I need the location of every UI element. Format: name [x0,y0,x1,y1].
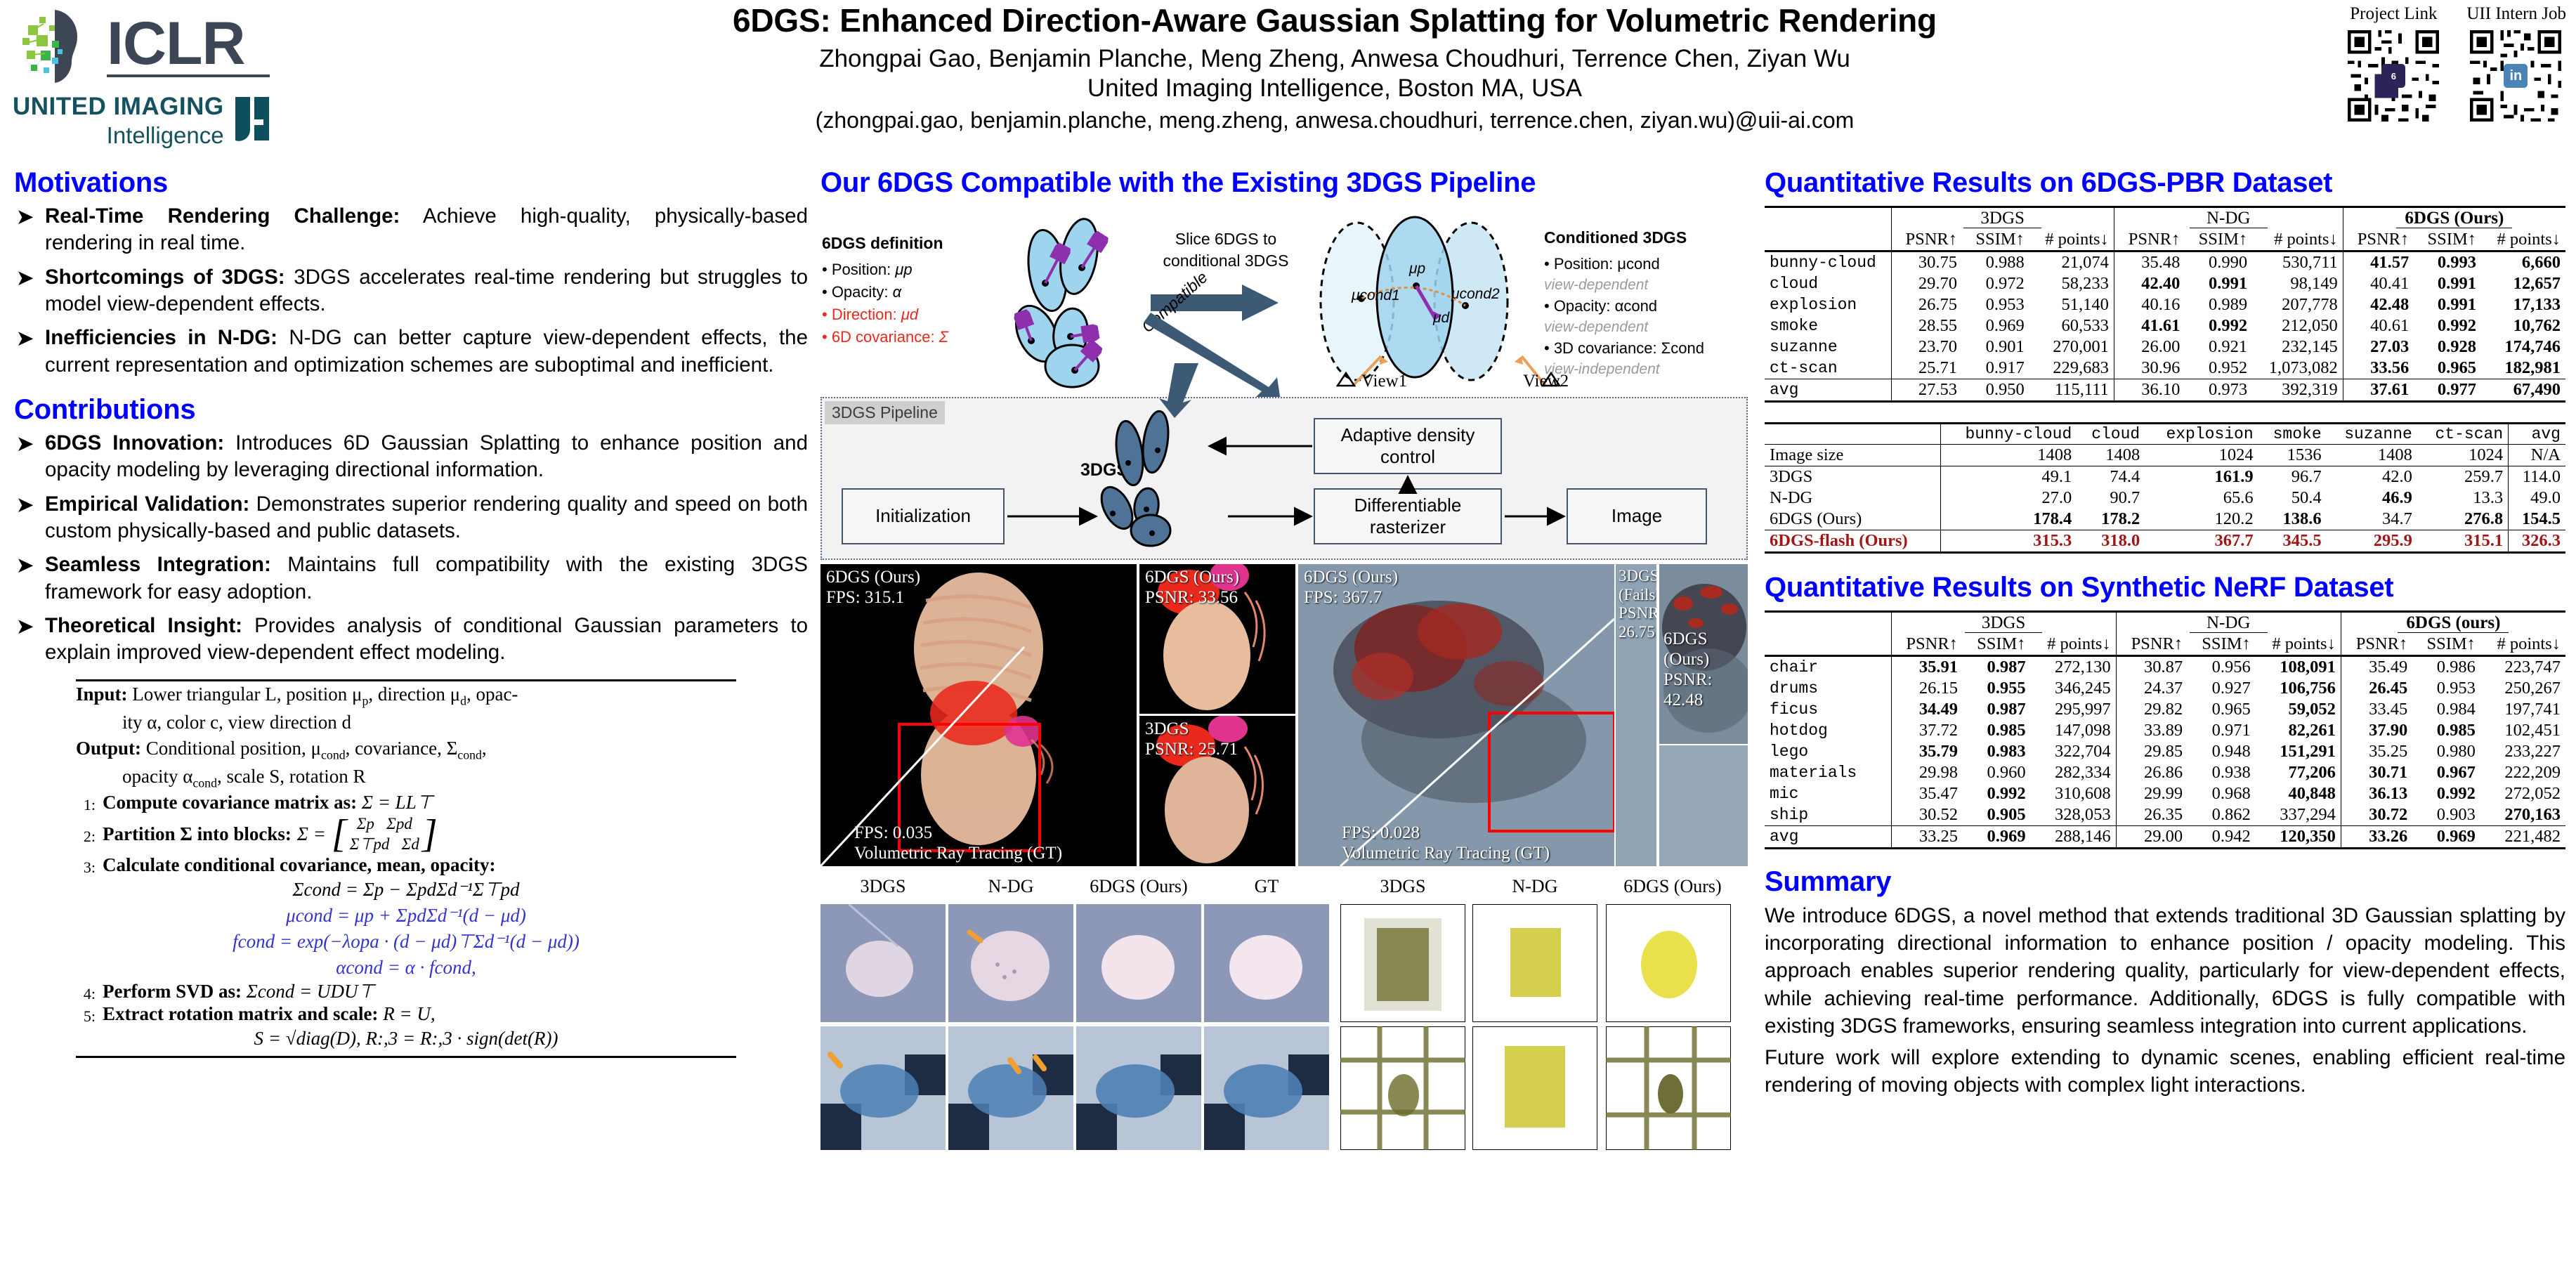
table-cell: 77,206 [2256,762,2341,783]
table-cell: 35.91 [1891,656,1963,679]
table-cell: 270,001 [2029,337,2114,358]
arrow-into-pipeline-icon [1131,363,1215,419]
title-block: 6DGS: Enhanced Direction-Aware Gaussian … [393,3,2276,134]
table-cell: 182,981 [2481,358,2565,379]
table-cell: 288,146 [2031,826,2117,849]
table-cell: 23.70 [1891,337,1962,358]
table-cell: 272,052 [2480,783,2565,804]
table-cell: 147,098 [2031,720,2117,741]
table-cell: 0.917 [1962,358,2029,379]
strip-header-right-2: 6DGS (Ours) [1606,876,1739,897]
qr-project-caption: Project Link [2344,4,2443,24]
table-cell: 221,482 [2480,826,2565,849]
nerf-sub-2a: PSNR↑ [2341,634,2412,656]
table-cell: 0.965 [2414,358,2481,379]
table-cell: 229,683 [2029,358,2114,379]
table-cell: 34.49 [1891,699,1963,720]
table-cell: 178.4 [1940,509,2077,530]
fps-col-1: cloud [2077,424,2145,445]
overlay-ct-main-l2: FPS: 315.1 [826,587,920,608]
bullet-lead: Empirical Validation: [45,492,249,516]
overlay-ct-zoom1-l2: PSNR: 33.56 [1145,587,1239,608]
table-cell: 29.70 [1891,273,1962,294]
table-cell: 120,350 [2256,826,2341,849]
nerf-sub-0b: SSIM↑ [1963,634,2031,656]
list-item: ➤Empirical Validation: Demonstrates supe… [14,491,808,545]
table-row: ship30.520.905328,05326.350.862337,29430… [1765,804,2565,826]
pbr-sub-1c: # points↓ [2252,229,2343,251]
table-row-label: hotdog [1765,720,1891,741]
table-cell: 0.990 [2185,251,2252,274]
section-heading-motivations: Motivations [14,167,808,199]
table-cell: 29.82 [2116,699,2188,720]
overlay-smoke-fail-l2: PSNR: 26.75 [1619,604,1656,641]
table-cell: 60,533 [2029,315,2114,337]
bullet-lead: Inefficiencies in N-DG: [45,326,277,349]
table-cell: 0.948 [2188,741,2256,762]
table-cell: 35.49 [2341,656,2412,679]
table-cell: 58,233 [2029,273,2114,294]
table-cell: 1024 [2417,445,2509,466]
def-opacity-label: • Opacity: [822,283,889,301]
table-cell: 212,050 [2252,315,2343,337]
algo-output-a: Conditional position, μ [146,738,321,759]
overlay-smoke-gt-l2: Volumetric Ray Tracing (GT) [1342,843,1550,863]
table-cell: 102,451 [2480,720,2565,741]
table-row-label: ficus [1765,699,1891,720]
table-cell: 1536 [2258,445,2327,466]
algo-input-label: Input: [76,684,128,705]
table-cell: 222,209 [2480,762,2565,783]
strip-header-right-1: N-DG [1472,876,1597,897]
table-cell: 0.952 [2185,358,2252,379]
overlay-smoke-main-l1: 6DGS (Ours) [1304,567,1398,587]
table-cell: 6,660 [2481,251,2565,274]
table-row: avg27.530.950115,11136.100.973392,31937.… [1765,379,2565,402]
table-cell: 30.52 [1891,804,1963,826]
table-cell: 24.37 [2116,678,2188,699]
table-cell: 207,778 [2252,294,2343,315]
algo-step-1-num: 1: [76,792,96,814]
algo-output-c: opacity α [122,766,192,787]
table-cell: 0.989 [2185,294,2252,315]
uii-logo: UNITED IMAGING Intelligence [13,93,364,149]
table-cell: 40.16 [2114,294,2185,315]
table-cell: 36.10 [2114,379,2185,402]
table-cell: 0.938 [2188,762,2256,783]
fps-col-3: smoke [2258,424,2327,445]
list-item: ➤Theoretical Insight: Provides analysis … [14,613,808,667]
poster-header: ICLR UNITED IMAGING Intelligence 6DGS: [0,0,2576,167]
algo-step-4: 4: Perform SVD as: Σcond = UDU⊤ [76,981,736,1003]
strip-cell-cloud-3dgs [820,904,946,1026]
table-row-subheader: PSNR↑ SSIM↑ # points↓ PSNR↑ SSIM↑ # poin… [1765,229,2565,251]
table-cell: 42.0 [2327,466,2417,488]
table-cell: 161.9 [2145,466,2258,488]
table-cell: 1,073,082 [2252,358,2343,379]
algo-output-d: , scale S, rotation R [217,766,365,787]
fps-col-0: bunny-cloud [1940,424,2077,445]
fps-col-6: avg [2509,424,2565,445]
table-cell: 315.1 [2417,530,2509,553]
table-cell: 1408 [2327,445,2417,466]
fps-col-5: ct-scan [2417,424,2509,445]
table-cell: 17,133 [2481,294,2565,315]
algo-step-1-text: Compute covariance matrix as: [103,792,357,813]
table-cell: 96.7 [2258,466,2327,488]
table-cell: 30.75 [1891,251,1962,274]
cond-covariance-note: view-independent [1544,360,1748,379]
qr-project-link[interactable]: Project Link [2344,4,2443,125]
nerf-sub-2b: SSIM↑ [2412,634,2480,656]
slice-label: Slice 6DGS to conditional 3DGS [1145,228,1307,272]
table-cell: 326.3 [2509,530,2565,553]
table-row: N-DG27.090.765.650.446.913.349.0 [1765,488,2565,509]
page-title: 6DGS: Enhanced Direction-Aware Gaussian … [393,3,2276,39]
table-row: cloud29.700.97258,23342.400.99198,14940.… [1765,273,2565,294]
label-mu-cond1: μcond1 [1352,287,1400,304]
column-left: Motivations ➤Real-Time Rendering Challen… [14,167,808,1058]
diagram-6dgs-definition: 6DGS definition • Position: μp • Opacity… [820,203,1748,394]
qr-intern-caption: UII Intern Job [2466,4,2566,24]
table-cell: 29.98 [1891,762,1963,783]
table-cell: 0.992 [2185,315,2252,337]
uii-shield-icon [234,96,270,146]
algo-output-line: Output: Conditional position, μcond, cov… [76,736,736,764]
table-cell: 26.45 [2341,678,2412,699]
table-cell: 0.992 [1963,783,2031,804]
algo-input-line: Input: Lower triangular L, position μp, … [76,681,736,710]
algo-eq-f: fcond = exp(−λopa · (d − μd)⊤Σd⁻¹(d − μd… [76,929,736,955]
strip-cell-ship-gt [1204,1026,1329,1154]
table-row-group-header: 3DGS N-DG 6DGS (Ours) [1765,207,2565,230]
affiliation: United Imaging Intelligence, Boston MA, … [393,74,2276,104]
table-fps: bunny-cloud cloud explosion smoke suzann… [1765,422,2565,555]
overlay-ct-main: 6DGS (Ours) FPS: 315.1 [826,567,920,608]
table-row: 6DGS (Ours)178.4178.2120.2138.634.7276.8… [1765,509,2565,530]
table-cell: 0.987 [1963,699,2031,720]
pbr-sub-1a: PSNR↑ [2114,229,2185,251]
table-cell: 0.927 [2188,678,2256,699]
table-cell: 74.4 [2077,466,2145,488]
arrow-bullet-icon: ➤ [17,431,33,457]
table-cell: 13.3 [2417,488,2509,509]
table-cell: 0.955 [1963,678,2031,699]
table-row-label: chair [1765,656,1891,679]
table-cell: 28.55 [1891,315,1962,337]
table-cell: 0.942 [2188,826,2256,849]
table-cell: 0.905 [1963,804,2031,826]
strip-cell-points-6dgs-top [1606,904,1731,1026]
table-cell: 26.86 [2116,762,2188,783]
section-heading-pipeline: Our 6DGS Compatible with the Existing 3D… [820,167,1748,199]
algorithm-box: Input: Lower triangular L, position μp, … [76,679,736,1059]
strip-header-right-0: 3DGS [1340,876,1465,897]
table-cell: 315.3 [1940,530,2077,553]
label-mu-cond2: μcond2 [1451,286,1500,303]
strip-header-left-1: N-DG [948,876,1073,897]
bullet-lead: Theoretical Insight: [45,614,242,637]
table-row-label: 3DGS [1765,466,1940,488]
overlay-smoke-main: 6DGS (Ours) FPS: 367.7 [1304,567,1398,608]
table-row: bunny-cloud30.750.98821,07435.480.990530… [1765,251,2565,274]
table-cell: 0.972 [1962,273,2029,294]
table-cell: 33.89 [2116,720,2188,741]
table-cell: 0.980 [2412,741,2480,762]
table-cell: 1024 [2145,445,2258,466]
table-cell: 0.991 [2414,294,2481,315]
table-row-label: N-DG [1765,488,1940,509]
def-position-label: • Position: [822,261,891,278]
qr-code-linkedin-icon: in [2466,27,2565,125]
bullet-lead: Seamless Integration: [45,553,271,576]
table-cell: 0.969 [2412,826,2480,849]
table-row: smoke28.550.96960,53341.610.992212,05040… [1765,315,2565,337]
overlay-smoke-zoom-l2: PSNR: 42.48 [1663,669,1748,710]
bullet-lead: Real-Time Rendering Challenge: [45,204,400,228]
table-cell: 26.00 [2114,337,2185,358]
table-cell: 29.99 [2116,783,2188,804]
algo-step-1: 1: Compute covariance matrix as: Σ = LL⊤ [76,792,736,814]
overlay-smoke-gt-l1: FPS: 0.028 [1342,823,1550,843]
algo-step-2-eq: Σ = [297,823,326,845]
table-row-label: 6DGS-flash (Ours) [1765,530,1940,553]
image-smoke-zoom-6dgs: 6DGS (Ours) PSNR: 42.48 [1659,564,1748,744]
table-cell: 49.0 [2509,488,2565,509]
pbr-sub-0a: PSNR↑ [1891,229,1962,251]
table-cell: 0.967 [2412,762,2480,783]
section-heading-pbr-table: Quantitative Results on 6DGS-PBR Dataset [1765,167,2565,199]
table-cell: 223,747 [2480,656,2565,679]
email-line: (zhongpai.gao, benjamin.planche, meng.zh… [393,107,2276,134]
table-cell: 0.985 [1963,720,2031,741]
table-row: lego35.790.983322,70429.850.948151,29135… [1765,741,2565,762]
table-row-label: smoke [1765,315,1891,337]
table-cell: 30.96 [2114,358,2185,379]
pbr-sub-2c: # points↓ [2481,229,2565,251]
table-row: explosion26.750.95351,14040.160.989207,7… [1765,294,2565,315]
image-smoke-6dgs-main: 6DGS (Ours) FPS: 367.7 FPS: 0.028 Volume… [1298,564,1614,866]
overlay-smoke-fail: 3DGS (Fails) PSNR: 26.75 [1619,567,1656,642]
overlay-smoke-zoom-l1: 6DGS (Ours) [1663,629,1748,669]
fps-col-2: explosion [2145,424,2258,445]
table-cell: 34.7 [2327,509,2417,530]
algo-step-4-text: Perform SVD as: [103,981,242,1002]
table-cell: 30.87 [2116,656,2188,679]
def-direction: • Direction: μd [822,303,1005,326]
table-cell: 0.977 [2414,379,2481,402]
table-cell: 1408 [1940,445,2077,466]
table-cell: 98,149 [2252,273,2343,294]
table-row: 3DGS49.174.4161.996.742.0259.7114.0 [1765,466,2565,488]
table-cell: 26.35 [2116,804,2188,826]
table-cell: 392,319 [2252,379,2343,402]
algo-matrix-10: Σ⊤pd [350,835,390,853]
table-cell: 276.8 [2417,509,2509,530]
table-cell: 0.903 [2412,804,2480,826]
table-cell: 0.984 [2412,699,2480,720]
uii-line1: UNITED IMAGING [13,93,224,121]
table-row: avg33.250.969288,14629.000.942120,35033.… [1765,826,2565,849]
contributions-list: ➤6DGS Innovation: Introduces 6D Gaussian… [14,430,808,667]
table-row-subheader: PSNR↑ SSIM↑ # points↓ PSNR↑ SSIM↑ # poin… [1765,634,2565,656]
nerf-group-1: N-DG [2190,613,2268,633]
table-cell: 33.26 [2341,826,2412,849]
table-row-label: avg [1765,379,1891,402]
cond-opacity: • Opacity: αcond [1544,295,1748,318]
pipeline-arrows-icon [822,398,1749,561]
strip-cell-ship-6dgs [1076,1026,1201,1154]
table-cell: 0.992 [2412,783,2480,804]
table-cell: 0.983 [1963,741,2031,762]
strip-header-left-2: 6DGS (Ours) [1076,876,1201,897]
table-cell: 30.71 [2341,762,2412,783]
table-cell: 0.992 [2414,315,2481,337]
table-cell: 49.1 [1940,466,2077,488]
strip-cell-cloud-ndg [948,904,1073,1026]
algo-output-b: , covariance, Σ [346,738,458,759]
table-cell: 41.61 [2114,315,2185,337]
uii-line2: Intelligence [13,122,224,149]
table-cell: 27.03 [2343,337,2414,358]
arrow-bullet-icon: ➤ [17,492,33,518]
table-cell: 65.6 [2145,488,2258,509]
algo-eq-sigma: Σcond = Σp − ΣpdΣd⁻¹Σ⊤pd [76,877,736,903]
table-cell: 29.00 [2116,826,2188,849]
table-cell: 0.968 [2188,783,2256,804]
conditioned-defs: Conditioned 3DGS • Position: μcond view-… [1544,228,1748,380]
table-cell: 337,294 [2256,804,2341,826]
image-ct-6dgs-main: 6DGS (Ours) FPS: 315.1 FPS: 0.035 Volume… [820,564,1137,866]
qr-intern-job[interactable]: UII Intern Job [2466,4,2566,125]
image-ct-zoom-3dgs: 3DGS PSNR: 25.71 [1139,716,1295,866]
table-cell: 33.56 [2343,358,2414,379]
table-row-label: avg [1765,826,1891,849]
table-cell: 50.4 [2258,488,2327,509]
table-cell: 328,053 [2031,804,2117,826]
table-cell: 37.61 [2343,379,2414,402]
table-cell: 0.901 [1962,337,2029,358]
image-smoke-3dgs-fails: 3DGS (Fails) PSNR: 26.75 [1616,564,1656,866]
summary-paragraph-2: Future work will explore extending to dy… [1765,1044,2565,1099]
table-cell: 318.0 [2077,530,2145,553]
arrow-bullet-icon: ➤ [17,614,33,639]
conditioned-title: Conditioned 3DGS [1544,228,1748,247]
iclr-wordmark: ICLR [107,15,270,73]
nerf-sub-1a: PSNR↑ [2116,634,2188,656]
algo-output-label: Output: [76,738,141,759]
overlay-smoke-fail-l1: 3DGS (Fails) [1619,567,1656,604]
table-row-label: ct-scan [1765,358,1891,379]
algo-output-line2: opacity αcond, scale S, rotation R [76,764,736,792]
arrow-bullet-icon: ➤ [17,326,33,351]
overlay-ct-zoom2-l2: PSNR: 25.71 [1145,739,1238,759]
table-cell: 21,074 [2029,251,2114,274]
author-list: Zhongpai Gao, Benjamin Planche, Meng Zhe… [393,44,2276,74]
table-cell: 346,245 [2031,678,2117,699]
list-item: ➤Inefficiencies in N-DG: N-DG can better… [14,325,808,379]
algo-step-1-eq: Σ = LL⊤ [362,792,433,813]
table-cell: 0.993 [2414,251,2481,274]
overlay-smoke-zoom: 6DGS (Ours) PSNR: 42.48 [1663,629,1748,710]
column-middle: Our 6DGS Compatible with the Existing 3D… [820,167,1748,1157]
algo-step-2-num: 2: [76,823,96,846]
strip-cell-ship-3dgs [820,1026,946,1154]
def-position: • Position: μp [822,259,1005,281]
diagram-defs: 6DGS definition • Position: μp • Opacity… [822,234,1005,348]
summary-paragraph-1: We introduce 6DGS, a novel method that e… [1765,902,2565,1040]
table-row: mic35.470.992310,60829.990.96840,84836.1… [1765,783,2565,804]
cond-opacity-note: view-dependent [1544,318,1748,337]
table-cell: 310,608 [2031,783,2117,804]
label-mu-d: μd [1433,310,1449,327]
pbr-sub-2b: SSIM↑ [2414,229,2481,251]
nerf-group-2: 6DGS (ours) [2398,613,2509,633]
table-cell: 51,140 [2029,294,2114,315]
table-cell: 0.991 [2414,273,2481,294]
fps-col-4: suzanne [2327,424,2417,445]
table-cell: 530,711 [2252,251,2343,274]
table-cell: 0.991 [2185,273,2252,294]
nerf-sub-2c: # points↓ [2480,634,2565,656]
table-cell: 0.965 [2188,699,2256,720]
nerf-sub-1b: SSIM↑ [2188,634,2256,656]
overlay-ct-gt-l2: Volumetric Ray Tracing (GT) [854,843,1062,863]
algo-step-3-num: 3: [76,854,96,877]
table-cell: 0.969 [1962,315,2029,337]
algo-step-4-num: 4: [76,981,96,1003]
table-cell: 41.57 [2343,251,2414,274]
pbr-group-1: N-DG [2190,209,2268,228]
nerf-sub-1c: # points↓ [2256,634,2341,656]
overlay-ct-gt-l1: FPS: 0.035 [854,823,1062,843]
table-cell: 10,762 [2481,315,2565,337]
table-bottom-rule [1765,402,2565,405]
iclr-brain-icon [13,4,97,89]
table-cell: 0.862 [2188,804,2256,826]
strip-cell-points-ndg-bottom [1472,1026,1597,1154]
strip-cell-points-3dgs-bottom [1340,1026,1465,1154]
section-heading-contributions: Contributions [14,394,808,426]
def-opacity-sym: α [893,283,902,301]
table-row: chair35.910.987272,13030.870.956108,0913… [1765,656,2565,679]
strip-cell-points-3dgs-top [1340,904,1465,1026]
table-cell: 270,163 [2480,804,2565,826]
table-cell: 106,756 [2256,678,2341,699]
table-cell: 30.72 [2341,804,2412,826]
table-cell: 36.13 [2341,783,2412,804]
diagram-defs-title: 6DGS definition [822,234,1005,253]
table-cell: 295.9 [2327,530,2417,553]
algo-rule-bottom [76,1056,736,1058]
table-cell: 0.971 [2188,720,2256,741]
table-pbr-wrap: 3DGS N-DG 6DGS (Ours) PSNR↑ SSIM↑ # poin… [1765,206,2565,404]
algo-step-3-text: Calculate conditional covariance, mean, … [103,854,495,876]
def-direction-sym: μd [901,306,918,323]
logo-block: ICLR UNITED IMAGING Intelligence [13,4,364,149]
table-cell: 40,848 [2256,783,2341,804]
table-cell: 138.6 [2258,509,2327,530]
algo-step-2: 2: Partition Σ into blocks: Σ = [ Σp Σpd… [76,814,736,855]
table-cell: 1408 [2077,445,2145,466]
pbr-sub-0b: SSIM↑ [1962,229,2029,251]
table-bottom-rule [1765,849,2565,851]
table-cell: 272,130 [2031,656,2117,679]
table-cell: 42.48 [2343,294,2414,315]
table-cell: 0.960 [1963,762,2031,783]
algo-eq-alpha: αcond = α · fcond, [76,955,736,981]
pbr-sub-1b: SSIM↑ [2185,229,2252,251]
